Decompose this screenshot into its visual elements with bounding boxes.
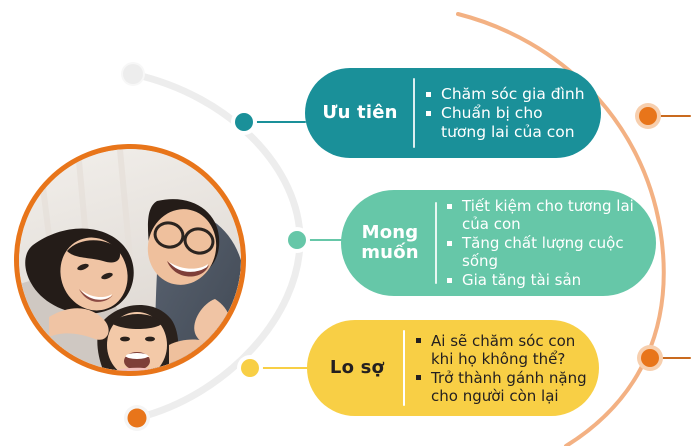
- connector-line-green: [309, 239, 343, 241]
- node-gray-top-core: [123, 64, 143, 84]
- node-orange-left-core: [128, 409, 147, 428]
- bullet-item: Ai sẽ chăm sóc con khi họ không thể?: [416, 332, 587, 368]
- bullet-item: Chuẩn bị cho tương lai của con: [426, 104, 585, 141]
- card-lo-so-divider: [403, 330, 405, 406]
- card-mong-muon[interactable]: Mong muốn Tiết kiệm cho tương lai của co…: [341, 190, 656, 296]
- node-orange-left: [124, 405, 150, 431]
- node-gray-top: [121, 62, 145, 86]
- card-lo-so-bullets: Ai sẽ chăm sóc con khi họ không thể? Trở…: [416, 331, 587, 406]
- card-mong-muon-label: Mong muốn: [353, 223, 427, 263]
- node-green-core: [288, 231, 306, 249]
- card-lo-so[interactable]: Lo sợ Ai sẽ chăm sóc con khi họ không th…: [307, 320, 599, 416]
- connector-line-teal: [256, 121, 306, 123]
- card-mong-muon-divider: [435, 202, 437, 284]
- card-uu-tien[interactable]: Ưu tiên Chăm sóc gia đình Chuẩn bị cho t…: [305, 68, 601, 158]
- card-uu-tien-divider: [413, 78, 415, 148]
- family-photo-image: [19, 149, 241, 371]
- node-orange-bottom: [637, 345, 663, 371]
- node-teal: [231, 109, 257, 135]
- node-orange-top: [635, 103, 661, 129]
- card-uu-tien-label: Ưu tiên: [317, 103, 403, 123]
- connector-line-yellow: [262, 367, 308, 369]
- node-yellow-core: [241, 359, 259, 377]
- bullet-item: Chăm sóc gia đình: [426, 85, 585, 104]
- node-teal-core: [235, 113, 253, 131]
- node-orange-top-core: [639, 107, 657, 125]
- card-uu-tien-bullets: Chăm sóc gia đình Chuẩn bị cho tương lai…: [426, 84, 585, 143]
- bullet-item: Trở thành gánh nặng cho người còn lại: [416, 369, 587, 405]
- family-photo-circle: [14, 144, 246, 376]
- connector-line-orange-bottom: [662, 357, 691, 359]
- node-yellow: [237, 355, 263, 381]
- node-orange-bottom-core: [641, 349, 659, 367]
- bullet-item: Tăng chất lượng cuộc sống: [447, 234, 646, 270]
- card-mong-muon-bullets: Tiết kiệm cho tương lai của con Tăng chấ…: [447, 196, 646, 290]
- card-lo-so-label: Lo sợ: [321, 358, 393, 378]
- bullet-item: Tiết kiệm cho tương lai của con: [447, 197, 646, 233]
- connector-line-orange-top: [660, 115, 691, 117]
- infographic-canvas: Ưu tiên Chăm sóc gia đình Chuẩn bị cho t…: [0, 0, 691, 446]
- node-green: [284, 227, 310, 253]
- bullet-item: Gia tăng tài sản: [447, 271, 646, 289]
